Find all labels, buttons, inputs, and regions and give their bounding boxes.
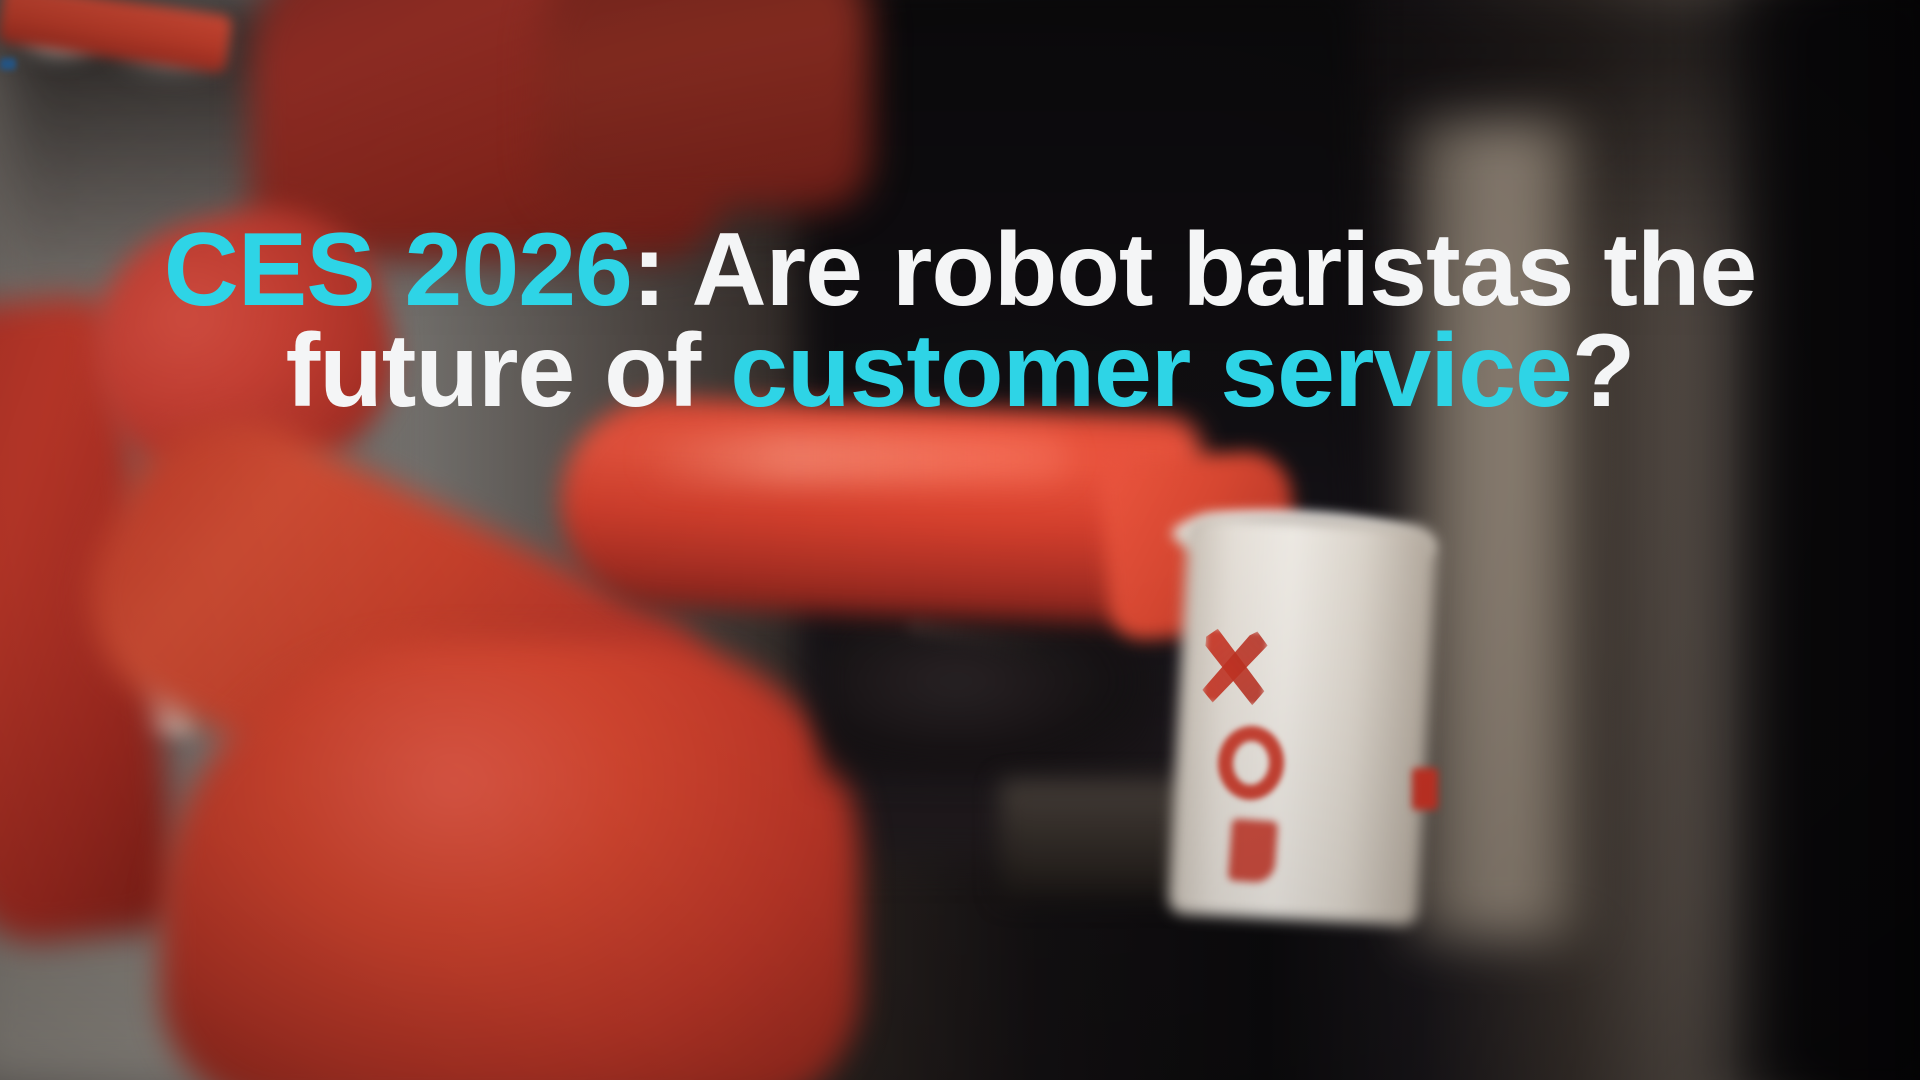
- machine-internals: [820, 600, 1160, 780]
- background-photograph: [0, 0, 1920, 1080]
- cup-brand-mark: [1228, 818, 1278, 883]
- robot-arm-shoulder: [540, 0, 870, 210]
- blue-sensor-light-icon: [0, 58, 16, 70]
- headline-segment-plain: ?: [1572, 313, 1635, 429]
- video-thumbnail-stage: CES 2026: Are robot baristas the future …: [0, 0, 1920, 1080]
- background-right-post: [1700, 0, 1920, 1080]
- robot-arm-base-joint: [160, 640, 860, 1080]
- cup-red-tab: [1412, 768, 1438, 810]
- paper-cup: [1168, 514, 1439, 927]
- headline-segment-accent: customer service: [730, 313, 1572, 429]
- robot-arm-highlight: [640, 432, 1070, 484]
- headline-segment-accent: CES 2026: [164, 212, 632, 328]
- headline-title: CES 2026: Are robot baristas the future …: [0, 220, 1920, 422]
